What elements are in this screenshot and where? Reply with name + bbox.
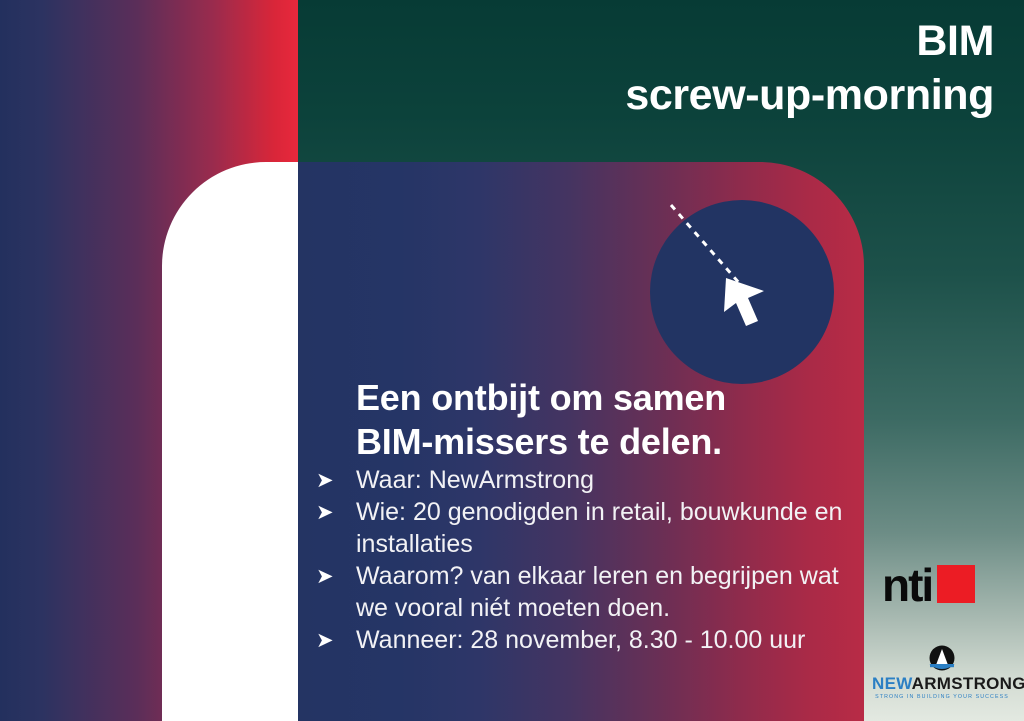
page-title: BIM screw-up-morning: [625, 14, 994, 122]
arrow-bullet-icon: ➤: [316, 561, 348, 593]
headline: Een ontbijt om samen BIM-missers te dele…: [356, 376, 826, 464]
background-left-gradient-top: [0, 0, 298, 162]
newarmstrong-wordmark: NEWARMSTRONG: [872, 675, 1012, 693]
list-item-label: Waarom? van elkaar leren en begrijpen wa…: [356, 562, 839, 622]
background-white-rounded-panel: [162, 162, 298, 721]
detail-bullet-list: ➤ Waar: NewArmstrong ➤ Wie: 20 genodigde…: [316, 464, 856, 656]
headline-line-1: Een ontbijt om samen: [356, 376, 826, 420]
title-line-1: BIM: [625, 14, 994, 68]
newarmstrong-emblem-icon: [925, 645, 959, 673]
headline-line-2: BIM-missers te delen.: [356, 420, 826, 464]
dashed-trail-line: [671, 205, 740, 284]
list-item: ➤ Wie: 20 genodigden in retail, bouwkund…: [316, 496, 856, 560]
nti-logo: nti: [882, 562, 975, 608]
arrow-bullet-icon: ➤: [316, 497, 348, 529]
newarmstrong-word-armstrong: ARMSTRONG: [912, 674, 1024, 693]
list-item: ➤ Wanneer: 28 november, 8.30 - 10.00 uur: [316, 624, 856, 656]
newarmstrong-word-new: NEW: [872, 674, 912, 693]
list-item-label: Waar: NewArmstrong: [356, 466, 594, 494]
arrow-bullet-icon: ➤: [316, 625, 348, 657]
title-line-2: screw-up-morning: [625, 68, 994, 122]
newarmstrong-logo: NEWARMSTRONG STRONG IN BUILDING YOUR SUC…: [872, 645, 1012, 702]
nti-wordmark: nti: [882, 562, 932, 608]
arrow-bullet-icon: ➤: [316, 465, 348, 497]
nti-red-square-icon: [937, 565, 975, 603]
list-item-label: Wie: 20 genodigden in retail, bouwkunde …: [356, 498, 842, 558]
mouse-cursor-arrow-icon: [666, 200, 796, 340]
list-item-label: Wanneer: 28 november, 8.30 - 10.00 uur: [356, 626, 805, 654]
cursor-arrowhead: [724, 278, 764, 326]
list-item: ➤ Waarom? van elkaar leren en begrijpen …: [316, 560, 856, 624]
content-card: Een ontbijt om samen BIM-missers te dele…: [298, 162, 864, 721]
newarmstrong-tagline: STRONG IN BUILDING YOUR SUCCESS: [872, 693, 1012, 702]
poster-canvas: BIM screw-up-morning Een ontbijt om same…: [0, 0, 1024, 721]
list-item: ➤ Waar: NewArmstrong: [316, 464, 856, 496]
